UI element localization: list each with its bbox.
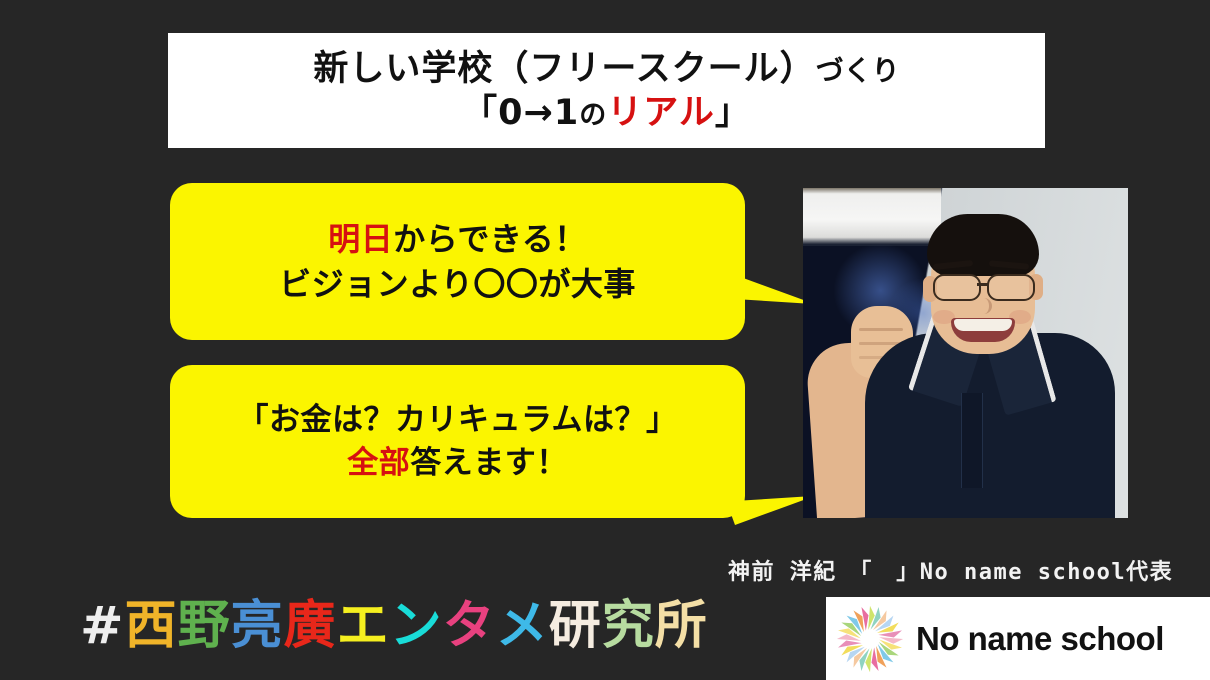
title-line-2-open: 「0→1	[462, 93, 579, 133]
photo-shirt-placket	[961, 393, 983, 488]
hashtag-char-7: タ	[443, 600, 496, 652]
photo-mouth	[951, 318, 1015, 342]
pinwheel-icon	[834, 603, 906, 675]
title-line-2: 「0→1のリアル」	[462, 92, 751, 134]
hashtag-char-11: 所	[655, 600, 708, 652]
hashtag-char-3: 亮	[231, 600, 284, 652]
bubble-2-highlight: 全部	[347, 445, 410, 481]
hashtag-char-6: ン	[390, 600, 443, 652]
photo-nose	[975, 298, 992, 314]
pinwheel-blade	[837, 634, 861, 641]
bubble-1-line-1: 明日からできる！	[328, 217, 586, 261]
hashtag-char-4: 廣	[284, 600, 337, 652]
bubble-2-line-2: 全部答えます！	[347, 442, 568, 485]
hashtag-char-2: 野	[178, 600, 231, 652]
title-line-2-particle: の	[579, 100, 607, 131]
hashtag-char-0: #	[80, 600, 125, 652]
bubble-1-highlight: 明日	[328, 220, 393, 258]
speaker-caption: 神前 洋紀 「 」No name school代表	[728, 554, 1173, 586]
photo-teeth	[954, 319, 1012, 331]
photo-glasses	[929, 274, 1039, 298]
title-line-2-close: 」	[715, 93, 751, 133]
logo-text: No name school	[916, 620, 1164, 658]
title-panel: 新しい学校（フリースクール）づくり 「0→1のリアル」	[168, 33, 1045, 148]
bubble-1-line-1-rest: からできる！	[393, 220, 586, 258]
pinwheel-blade	[865, 648, 872, 672]
hashtag-salon: #西野亮廣エンタメ研究所	[80, 600, 708, 652]
speech-bubble-2: 「お金は？カリキュラムは？」 全部答えます！	[170, 365, 745, 518]
hashtag-char-1: 西	[125, 600, 178, 652]
pinwheel-blade	[868, 605, 875, 629]
title-line-1-main: 新しい学校（フリースクール）	[313, 49, 815, 89]
photo-whiteboard	[803, 188, 941, 246]
title-line-2-highlight: リアル	[607, 93, 715, 133]
photo-lens-left	[933, 274, 981, 301]
hashtag-char-8: メ	[496, 600, 549, 652]
photo-lens-right	[987, 274, 1035, 301]
school-logo: No name school	[826, 597, 1210, 680]
slide-canvas: 新しい学校（フリースクール）づくり 「0→1のリアル」 明日からできる！ ビジョ…	[0, 0, 1210, 680]
hashtag-char-9: 研	[549, 600, 602, 652]
speaker-photo	[803, 188, 1128, 518]
bubble-2-line-2-rest: 答えます！	[410, 445, 568, 481]
hashtag-char-5: エ	[337, 600, 390, 652]
hashtag-char-10: 究	[602, 600, 655, 652]
photo-glasses-bridge	[977, 283, 989, 286]
speech-bubble-1: 明日からできる！ ビジョンより〇〇が大事	[170, 183, 745, 340]
bubble-2-line-1: 「お金は？カリキュラムは？」	[237, 399, 677, 442]
title-line-1-suffix: づくり	[816, 54, 900, 87]
title-line-1: 新しい学校（フリースクール）づくり	[313, 49, 899, 89]
pinwheel-blade	[879, 637, 903, 644]
bubble-1-line-2: ビジョンより〇〇が大事	[279, 262, 636, 306]
